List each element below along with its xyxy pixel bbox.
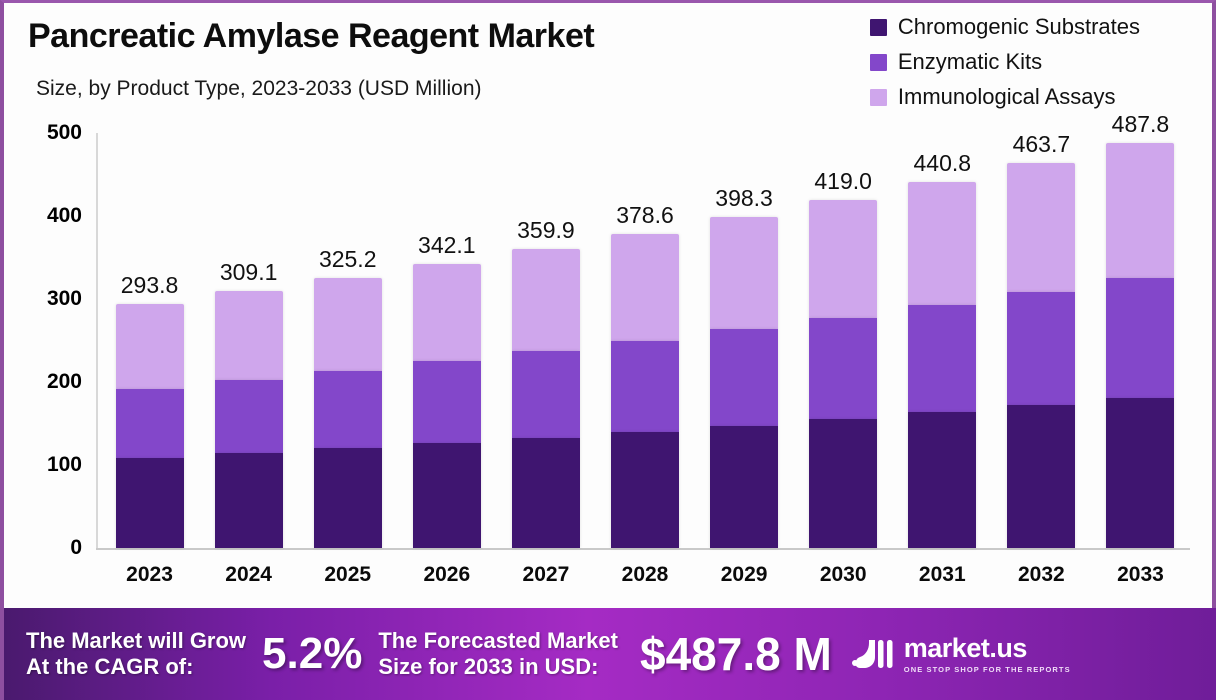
y-axis: 0100200300400500 bbox=[4, 3, 96, 607]
x-axis-tick: 2024 bbox=[225, 563, 272, 587]
bar-segment[interactable] bbox=[710, 426, 778, 548]
x-axis-tick: 2033 bbox=[1117, 563, 1164, 587]
bar-stack[interactable] bbox=[809, 200, 877, 548]
cagr-value: 5.2% bbox=[262, 629, 362, 679]
forecast-label-line2: Size for 2033 in USD: bbox=[378, 654, 618, 680]
bar-value-label: 293.8 bbox=[121, 272, 179, 299]
cagr-label-line1: The Market will Grow bbox=[26, 628, 246, 654]
bar-stack[interactable] bbox=[116, 304, 184, 548]
bar-segment[interactable] bbox=[710, 329, 778, 425]
x-axis-tick: 2023 bbox=[126, 563, 173, 587]
y-axis-tick: 0 bbox=[70, 536, 82, 560]
bar-stack[interactable] bbox=[908, 182, 976, 548]
forecast-label: The Forecasted Market Size for 2033 in U… bbox=[378, 628, 618, 680]
bar-segment[interactable] bbox=[1106, 143, 1174, 278]
x-axis-tick: 2028 bbox=[622, 563, 669, 587]
bar-value-label: 342.1 bbox=[418, 232, 476, 259]
market-us-logo[interactable]: market.us ONE STOP SHOP FOR THE REPORTS bbox=[850, 635, 1071, 674]
bar-segment[interactable] bbox=[1106, 278, 1174, 398]
cagr-label-line2: At the CAGR of: bbox=[26, 654, 246, 680]
x-axis-tick: 2029 bbox=[721, 563, 768, 587]
y-axis-tick: 200 bbox=[47, 370, 82, 394]
bar-segment[interactable] bbox=[1007, 292, 1075, 406]
bar-segment[interactable] bbox=[314, 278, 382, 371]
bar-segment[interactable] bbox=[413, 361, 481, 443]
x-axis-tick: 2030 bbox=[820, 563, 867, 587]
bar-stack[interactable] bbox=[413, 264, 481, 548]
bar-stack[interactable] bbox=[215, 291, 283, 548]
logo-name: market.us bbox=[904, 635, 1071, 662]
bar-value-label: 419.0 bbox=[814, 168, 872, 195]
bar-value-label: 309.1 bbox=[220, 259, 278, 286]
bar-stack[interactable] bbox=[1007, 163, 1075, 548]
bar-segment[interactable] bbox=[512, 249, 580, 351]
x-axis-tick: 2027 bbox=[523, 563, 570, 587]
y-axis-tick: 400 bbox=[47, 204, 82, 228]
bar-segment[interactable] bbox=[413, 264, 481, 361]
bar-segment[interactable] bbox=[611, 432, 679, 548]
bar-segment[interactable] bbox=[116, 304, 184, 388]
bar-value-label: 487.8 bbox=[1112, 111, 1170, 138]
bar-stack[interactable] bbox=[1106, 143, 1174, 548]
bar-segment[interactable] bbox=[809, 419, 877, 548]
bar-stack[interactable] bbox=[512, 249, 580, 548]
bar-segment[interactable] bbox=[1007, 405, 1075, 548]
bar-value-label: 359.9 bbox=[517, 217, 575, 244]
bar-segment[interactable] bbox=[611, 341, 679, 432]
bar-value-label: 440.8 bbox=[913, 150, 971, 177]
cagr-label: The Market will Grow At the CAGR of: bbox=[26, 628, 246, 680]
bar-segment[interactable] bbox=[1106, 398, 1174, 548]
logo-text-block: market.us ONE STOP SHOP FOR THE REPORTS bbox=[904, 635, 1071, 674]
x-axis-tick: 2026 bbox=[423, 563, 470, 587]
x-axis-tick: 2032 bbox=[1018, 563, 1065, 587]
market-us-logo-icon bbox=[850, 637, 896, 671]
bar-segment[interactable] bbox=[215, 291, 283, 380]
bar-segment[interactable] bbox=[512, 351, 580, 437]
bar-segment[interactable] bbox=[908, 305, 976, 412]
x-axis-tick: 2025 bbox=[324, 563, 371, 587]
bar-value-label: 398.3 bbox=[715, 185, 773, 212]
bar-segment[interactable] bbox=[809, 200, 877, 317]
chart-infographic: Pancreatic Amylase Reagent Market Size, … bbox=[0, 0, 1216, 700]
bar-stack[interactable] bbox=[314, 278, 382, 548]
bar-segment[interactable] bbox=[116, 458, 184, 548]
bar-segment[interactable] bbox=[908, 182, 976, 305]
bar-segment[interactable] bbox=[1007, 163, 1075, 292]
bar-segment[interactable] bbox=[314, 371, 382, 448]
bar-value-label: 378.6 bbox=[616, 202, 674, 229]
summary-banner: The Market will Grow At the CAGR of: 5.2… bbox=[4, 608, 1216, 700]
forecast-value: $487.8 M bbox=[640, 627, 832, 681]
bar-segment[interactable] bbox=[710, 217, 778, 329]
x-axis-tick: 2031 bbox=[919, 563, 966, 587]
bar-stack[interactable] bbox=[710, 217, 778, 548]
bar-segment[interactable] bbox=[512, 438, 580, 548]
bar-segment[interactable] bbox=[215, 453, 283, 548]
bar-segment[interactable] bbox=[809, 318, 877, 420]
bar-value-label: 463.7 bbox=[1013, 131, 1071, 158]
y-axis-line bbox=[96, 133, 98, 550]
bar-segment[interactable] bbox=[116, 389, 184, 458]
bar-stack[interactable] bbox=[611, 234, 679, 548]
bar-segment[interactable] bbox=[215, 380, 283, 453]
bar-segment[interactable] bbox=[314, 448, 382, 548]
logo-tagline: ONE STOP SHOP FOR THE REPORTS bbox=[904, 665, 1071, 674]
bar-segment[interactable] bbox=[908, 412, 976, 548]
y-axis-tick: 100 bbox=[47, 453, 82, 477]
bar-segment[interactable] bbox=[413, 443, 481, 548]
y-axis-tick: 300 bbox=[47, 287, 82, 311]
bar-segment[interactable] bbox=[611, 234, 679, 341]
bar-value-label: 325.2 bbox=[319, 246, 377, 273]
forecast-label-line1: The Forecasted Market bbox=[378, 628, 618, 654]
chart-plot-area: 0100200300400500 293.82023309.12024325.2… bbox=[4, 3, 1216, 607]
bar-series-container: 293.82023309.12024325.22025342.12026359.… bbox=[100, 3, 1190, 607]
y-axis-tick: 500 bbox=[47, 121, 82, 145]
